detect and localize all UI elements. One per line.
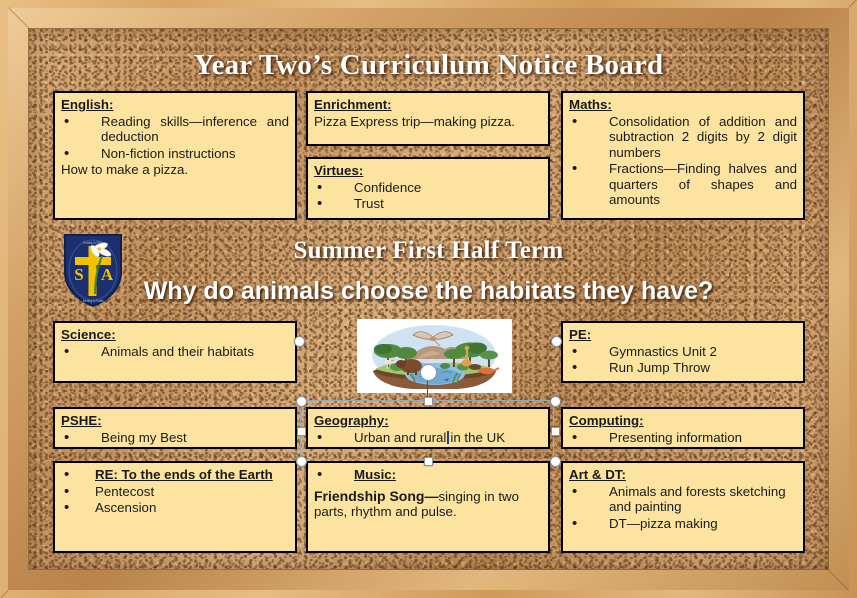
frame-mitre-top-right — [848, 0, 857, 8]
enrichment-card[interactable]: Enrichment: Pizza Express trip—making pi… — [306, 91, 550, 146]
resize-handle-middle-left[interactable] — [297, 427, 306, 436]
virtues-bullet-list: Confidence Trust — [314, 180, 542, 212]
question-banner: Why do animals choose the habitats they … — [29, 277, 828, 306]
virtues-heading: Virtues: — [314, 163, 542, 179]
resize-handle-top-right[interactable] — [550, 396, 561, 407]
pshe-bullet-list: Being my Best — [61, 430, 289, 446]
list-item: DT—pizza making — [569, 516, 797, 532]
english-bullet-list: Reading skills—inference and deduction N… — [61, 114, 289, 162]
art-dt-heading: Art & DT: — [569, 467, 797, 483]
english-heading: English: — [61, 97, 289, 113]
geography-bullet-list: Urban and ruralin the UK — [314, 430, 542, 446]
notice-board-slide: Year Two’s Curriculum Notice Board Summe… — [0, 0, 857, 598]
list-item: Pentecost — [61, 484, 289, 500]
science-heading: Science: — [61, 327, 289, 343]
svg-text:A: A — [101, 265, 114, 284]
resize-handle-top-left[interactable] — [296, 396, 307, 407]
music-card[interactable]: Music: Friendship Song—singing in two pa… — [306, 461, 550, 553]
rotation-handle[interactable] — [420, 364, 437, 381]
english-card[interactable]: English: Reading skills—inference and de… — [53, 91, 297, 220]
maths-bullet-list: Consolidation of addition and subtractio… — [569, 114, 797, 208]
svg-text:Strong in Faith: Strong in Faith — [83, 299, 104, 303]
resize-handle-middle-right[interactable] — [551, 427, 560, 436]
music-song-line: Friendship Song—singing in two parts, rh… — [314, 488, 542, 520]
cork-board-surface: Year Two’s Curriculum Notice Board Summe… — [29, 29, 828, 569]
resize-handle-top-center[interactable] — [424, 397, 433, 406]
term-banner: Summer First Half Term — [29, 237, 828, 265]
geography-text-after-caret: in the UK — [450, 430, 505, 445]
maths-heading: Maths: — [569, 97, 797, 113]
list-item: Trust — [314, 196, 542, 212]
list-item: Fractions—Finding halves and quarters of… — [569, 161, 797, 208]
list-item: Being my Best — [61, 430, 289, 446]
school-crest-logo: S A Fortes in Fide Strong in Faith — [62, 232, 124, 308]
list-item: Urban and ruralin the UK — [314, 430, 542, 446]
resize-handle-bottom-left[interactable] — [296, 456, 307, 467]
list-item: Reading skills—inference and deduction — [61, 114, 289, 145]
list-item: Non-fiction instructions — [61, 146, 289, 162]
re-bullet-list: RE: To the ends of the Earth Pentecost A… — [61, 467, 289, 516]
music-heading: Music: — [354, 467, 396, 482]
resize-handle-picture-right[interactable] — [551, 336, 562, 347]
list-item: RE: To the ends of the Earth — [61, 467, 289, 483]
list-item: Run Jump Throw — [569, 360, 797, 376]
page-title: Year Two’s Curriculum Notice Board — [29, 49, 828, 82]
list-item: Presenting information — [569, 430, 797, 446]
science-card[interactable]: Science: Animals and their habitats — [53, 321, 297, 383]
re-heading: RE: To the ends of the Earth — [95, 467, 273, 482]
computing-card[interactable]: Computing: Presenting information — [561, 407, 805, 449]
pe-bullet-list: Gymnastics Unit 2 Run Jump Throw — [569, 344, 797, 376]
geography-text-before-caret: Urban and rural — [354, 430, 446, 445]
resize-handle-bottom-center[interactable] — [424, 457, 433, 466]
geography-heading: Geography: — [314, 413, 542, 429]
list-item: Confidence — [314, 180, 542, 196]
pshe-heading: PSHE: — [61, 413, 289, 429]
art-dt-bullet-list: Animals and forests sketching and painti… — [569, 484, 797, 532]
pshe-card[interactable]: PSHE: Being my Best — [53, 407, 297, 449]
svg-text:S: S — [74, 265, 83, 284]
computing-heading: Computing: — [569, 413, 797, 429]
music-song-title: Friendship Song— — [314, 488, 438, 504]
music-bullet-list: Music: — [314, 467, 542, 483]
re-card[interactable]: RE: To the ends of the Earth Pentecost A… — [53, 461, 297, 553]
science-bullet-list: Animals and their habitats — [61, 344, 289, 360]
list-item: Music: — [314, 467, 542, 483]
resize-handle-bottom-right[interactable] — [550, 456, 561, 467]
enrichment-text: Pizza Express trip—making pizza. — [314, 114, 542, 130]
pe-card[interactable]: PE: Gymnastics Unit 2 Run Jump Throw — [561, 321, 805, 383]
virtues-card[interactable]: Virtues: Confidence Trust — [306, 157, 550, 220]
list-item: Animals and forests sketching and painti… — [569, 484, 797, 515]
frame-mitre-bottom-left — [0, 590, 9, 598]
maths-card[interactable]: Maths: Consolidation of addition and sub… — [561, 91, 805, 220]
list-item: Gymnastics Unit 2 — [569, 344, 797, 360]
list-item: Consolidation of addition and subtractio… — [569, 114, 797, 161]
enrichment-heading: Enrichment: — [314, 97, 542, 113]
resize-handle-picture-left[interactable] — [294, 336, 305, 347]
geography-card[interactable]: Geography: Urban and ruralin the UK — [306, 407, 550, 449]
art-dt-card[interactable]: Art & DT: Animals and forests sketching … — [561, 461, 805, 553]
english-trailing-text: How to make a pizza. — [61, 162, 289, 178]
svg-text:Fortes in Fide: Fortes in Fide — [83, 241, 103, 245]
list-item: Animals and their habitats — [61, 344, 289, 360]
list-item: Ascension — [61, 500, 289, 516]
pe-heading: PE: — [569, 327, 797, 343]
computing-bullet-list: Presenting information — [569, 430, 797, 446]
habitat-illustration[interactable] — [357, 319, 512, 393]
